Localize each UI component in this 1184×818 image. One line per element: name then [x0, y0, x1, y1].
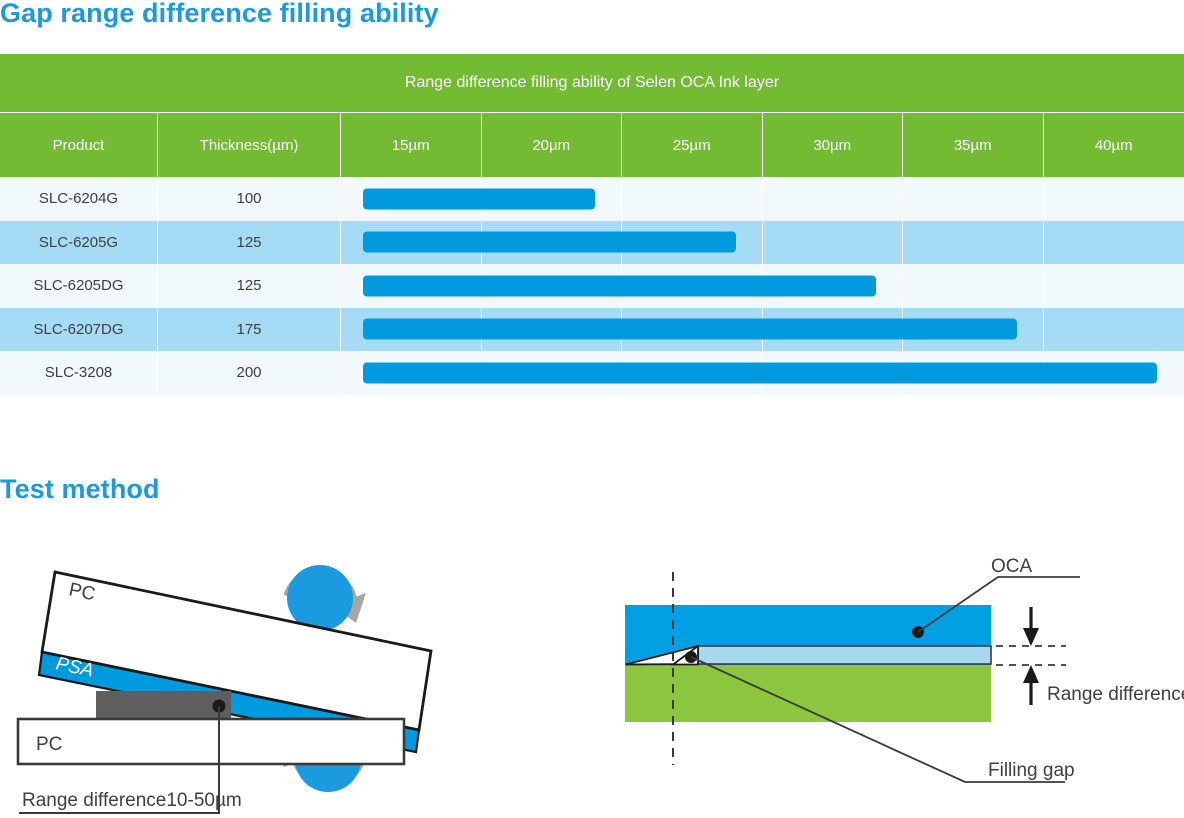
table-row: SLC-6205G 125 [0, 221, 1184, 265]
table-row: SLC-3208 200 [0, 351, 1184, 395]
filling-bar [363, 188, 595, 209]
filling-gap-label: Filling gap [988, 760, 1075, 781]
filling-bar [363, 275, 876, 296]
gray-spacer-block [96, 691, 231, 720]
table-header-row: Product Thickness(µm) 15µm 20µm 25µm 30µ… [0, 112, 1184, 177]
range-difference-right-label: Range difference [1047, 684, 1184, 705]
cell-product: SLC-6205G [0, 221, 158, 265]
filling-gap-band [698, 646, 991, 664]
column-header-thickness: Thickness(µm) [158, 113, 341, 177]
filling-bar [363, 232, 736, 253]
page-title-test-method: Test method [0, 474, 160, 505]
cell-thickness: 125 [158, 221, 341, 265]
substrate-green-layer [625, 665, 991, 722]
filling-bar [363, 362, 1157, 383]
page-title-gap-range: Gap range difference filling ability [0, 0, 439, 29]
cell-thickness: 200 [158, 351, 341, 395]
cell-product: SLC-6207DG [0, 308, 158, 352]
cell-thickness: 175 [158, 308, 341, 352]
rotation-arrow-top-icon [284, 565, 367, 631]
bar-zone [341, 177, 1184, 221]
range-up-arrow-icon [1023, 665, 1039, 705]
table-caption: Range difference filling ability of Sele… [0, 54, 1184, 112]
column-header-15um: 15µm [341, 113, 482, 177]
cell-thickness: 125 [158, 264, 341, 308]
column-header-40um: 40µm [1044, 113, 1184, 177]
column-header-25um: 25µm [622, 113, 763, 177]
cell-product: SLC-6205DG [0, 264, 158, 308]
pc-bottom-layer [18, 719, 404, 764]
filling-gap-cross-section-diagram: OCA Range difference Filling gap [600, 550, 1184, 800]
range-difference-label: Range difference10-50µm [22, 790, 242, 811]
column-header-20um: 20µm [482, 113, 623, 177]
bar-zone [341, 351, 1184, 395]
filling-bar [363, 319, 1017, 340]
cell-product: SLC-3208 [0, 351, 158, 395]
column-header-30um: 30µm [763, 113, 904, 177]
cell-product: SLC-6204G [0, 177, 158, 221]
table-row: SLC-6207DG 175 [0, 308, 1184, 352]
column-header-35um: 35µm [903, 113, 1044, 177]
table-row: SLC-6205DG 125 [0, 264, 1184, 308]
cell-thickness: 100 [158, 177, 341, 221]
bar-zone [341, 221, 1184, 265]
range-down-arrow-icon [1023, 607, 1039, 646]
pc-bottom-label: PC [36, 734, 62, 755]
filling-ability-table: Range difference filling ability of Sele… [0, 54, 1184, 395]
table-row: SLC-6204G 100 [0, 177, 1184, 221]
bar-zone [341, 264, 1184, 308]
oca-label: OCA [991, 556, 1033, 577]
column-header-product: Product [0, 113, 158, 177]
slide-root: Gap range difference filling ability Ran… [0, 0, 1184, 818]
bar-zone [341, 308, 1184, 352]
test-method-tilt-diagram: PC PSA PC Range difference10-50µm [0, 520, 470, 818]
